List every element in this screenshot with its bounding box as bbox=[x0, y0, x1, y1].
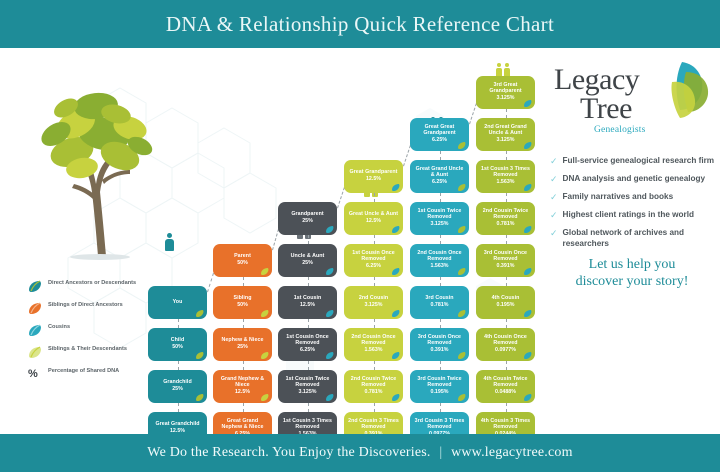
node-you: You bbox=[148, 286, 207, 319]
leaf-icon bbox=[523, 268, 532, 275]
leaf-mark-icon bbox=[652, 58, 710, 120]
feature-label: Global network of archives and researche… bbox=[563, 228, 716, 249]
node-percentage: 3.125% bbox=[299, 390, 317, 396]
connector-vertical bbox=[243, 361, 244, 370]
node-percentage: 0.195% bbox=[497, 303, 515, 309]
connector-vertical bbox=[374, 277, 375, 286]
connector-vertical bbox=[243, 319, 244, 328]
node-percentage: 6.25% bbox=[300, 348, 315, 354]
node-percentage: 0.195% bbox=[431, 390, 449, 396]
connector-vertical bbox=[308, 361, 309, 370]
connector-vertical bbox=[374, 319, 375, 328]
leaf-icon bbox=[457, 184, 466, 191]
node-c1r2b: 1st Cousin Twice Removed3.125% bbox=[410, 202, 469, 235]
connector-vertical bbox=[506, 403, 507, 412]
node-label: Great Grand Uncle & Aunt bbox=[413, 167, 466, 179]
node-percentage: 0.781% bbox=[365, 390, 383, 396]
connector-vertical bbox=[506, 109, 507, 118]
node-percentage: 3.125% bbox=[497, 138, 515, 144]
brand-panel: Legacy Tree Genealogists ✓ Full-service … bbox=[548, 56, 716, 290]
connector-vertical bbox=[243, 403, 244, 412]
node-percentage: 12.5% bbox=[366, 219, 381, 225]
node-label: Great Grand Nephew & Niece bbox=[216, 419, 269, 431]
connector-vertical bbox=[440, 151, 441, 160]
leaf-icon bbox=[457, 268, 466, 275]
node-percentage: 50% bbox=[237, 303, 248, 309]
node-percentage: 25% bbox=[237, 345, 248, 351]
legend-label: Direct Ancestors or Descendants bbox=[48, 280, 136, 288]
leaf-icon bbox=[523, 394, 532, 401]
legend-label: Cousins bbox=[48, 324, 70, 332]
node-percentage: 3.125% bbox=[365, 303, 383, 309]
node-label: 3rd Cousin 3 Times Removed bbox=[413, 419, 466, 431]
node-child: Child50% bbox=[148, 328, 207, 361]
connector-vertical bbox=[178, 403, 179, 412]
connector-vertical bbox=[506, 193, 507, 202]
leaf-icon bbox=[260, 310, 269, 317]
leaf-icon bbox=[523, 310, 532, 317]
leaf-icon bbox=[523, 352, 532, 359]
leaf-icon bbox=[195, 352, 204, 359]
cta-line-1: Let us help you bbox=[548, 256, 716, 273]
connector-vertical bbox=[374, 193, 375, 202]
person-you-icon bbox=[165, 233, 174, 251]
node-uncleaunt: Uncle & Aunt25% bbox=[278, 244, 337, 277]
page-header: DNA & Relationship Quick Reference Chart bbox=[0, 0, 720, 48]
legend-label: Siblings of Direct Ancestors bbox=[48, 302, 123, 310]
cta-line-2: discover your story! bbox=[548, 273, 716, 290]
legend-item: % Percentage of Shared DNA bbox=[28, 368, 140, 381]
node-percentage: 12.5% bbox=[235, 390, 250, 396]
leaf-icon bbox=[391, 394, 400, 401]
connector-vertical bbox=[374, 361, 375, 370]
node-ggua: Great Grand Uncle & Aunt6.25% bbox=[410, 160, 469, 193]
connector-vertical bbox=[440, 193, 441, 202]
footer-website-link[interactable]: www.legacytree.com bbox=[451, 445, 573, 460]
leaf-icon bbox=[391, 268, 400, 275]
leaf-icon bbox=[260, 268, 269, 275]
node-label: 2nd Cousin 3 Times Removed bbox=[347, 419, 400, 431]
connector-vertical bbox=[440, 235, 441, 244]
connector-vertical bbox=[440, 403, 441, 412]
node-label: 2nd Cousin Twice Removed bbox=[347, 377, 400, 389]
feature-item: ✓ Highest client ratings in the world bbox=[550, 210, 716, 221]
leaf-icon bbox=[195, 310, 204, 317]
node-c2r1b: 2nd Cousin Once Removed1.563% bbox=[410, 244, 469, 277]
node-percentage: 25% bbox=[172, 387, 183, 393]
node-percentage: 0.0977% bbox=[495, 348, 516, 354]
leaf-icon bbox=[325, 394, 334, 401]
connector-vertical bbox=[506, 235, 507, 244]
leaf-icon bbox=[391, 310, 400, 317]
check-icon: ✓ bbox=[550, 228, 558, 239]
node-label: 4th Cousin Twice Removed bbox=[479, 377, 532, 389]
call-to-action: Let us help you discover your story! bbox=[548, 256, 716, 290]
node-c1r2: 1st Cousin Twice Removed3.125% bbox=[278, 370, 337, 403]
couple-third-great-grandparent-icon bbox=[496, 63, 510, 77]
feature-item: ✓ DNA analysis and genetic genealogy bbox=[550, 174, 716, 185]
leaf-teal-icon bbox=[28, 280, 42, 293]
node-percentage: 50% bbox=[172, 345, 183, 351]
node-c2r3: 2nd Cousin 3 Times Removed0.391% bbox=[344, 412, 403, 434]
leaf-lime-icon bbox=[28, 346, 42, 359]
legacy-tree-logo[interactable]: Legacy Tree Genealogists bbox=[548, 56, 716, 152]
feature-label: Full-service genealogical research firm bbox=[563, 156, 715, 167]
leaf-icon bbox=[391, 352, 400, 359]
logo-line-1: Legacy bbox=[554, 66, 645, 94]
node-c3r1: 3rd Cousin Once Removed0.391% bbox=[410, 328, 469, 361]
node-label: 2nd Cousin Once Removed bbox=[347, 335, 400, 347]
node-percentage: 0.391% bbox=[497, 264, 515, 270]
feature-label: Family narratives and books bbox=[563, 192, 674, 203]
node-grandchild: Grandchild25% bbox=[148, 370, 207, 403]
feature-list: ✓ Full-service genealogical research fir… bbox=[548, 156, 716, 249]
node-c3r1b: 3rd Cousin Once Removed0.391% bbox=[476, 244, 535, 277]
node-grandparent: Grandparent25% bbox=[278, 202, 337, 235]
leaf-blue-icon bbox=[28, 324, 42, 337]
node-label: 3rd Great Grandparent bbox=[479, 83, 532, 95]
check-icon: ✓ bbox=[550, 156, 558, 167]
check-icon: ✓ bbox=[550, 174, 558, 185]
leaf-icon bbox=[391, 184, 400, 191]
footer-divider: | bbox=[439, 445, 442, 460]
node-percentage: 0.781% bbox=[431, 303, 449, 309]
leaf-icon bbox=[325, 268, 334, 275]
connector-vertical bbox=[243, 277, 244, 286]
node-percentage: 25% bbox=[302, 261, 313, 267]
node-percentage: 6.25% bbox=[366, 264, 381, 270]
node-label: Great Great Grandparent bbox=[413, 125, 466, 137]
check-icon: ✓ bbox=[550, 192, 558, 203]
page-title: DNA & Relationship Quick Reference Chart bbox=[166, 12, 554, 37]
legend-item: Direct Ancestors or Descendants bbox=[28, 280, 140, 293]
node-percentage: 0.0488% bbox=[495, 390, 516, 396]
node-grandnephew: Grand Nephew & Niece12.5% bbox=[213, 370, 272, 403]
node-percentage: 12.5% bbox=[300, 303, 315, 309]
node-percentage: 0.781% bbox=[497, 222, 515, 228]
leaf-icon bbox=[523, 226, 532, 233]
leaf-icon bbox=[457, 310, 466, 317]
percent-icon: % bbox=[28, 368, 42, 381]
node-c2r1: 2nd Cousin Once Removed1.563% bbox=[344, 328, 403, 361]
node-ggp: Great Grandparent12.5% bbox=[344, 160, 403, 193]
node-g3gp: 3rd Great Grandparent3.125% bbox=[476, 76, 535, 109]
connector-vertical bbox=[440, 361, 441, 370]
legend-item: Siblings of Direct Ancestors bbox=[28, 302, 140, 315]
node-percentage: 50% bbox=[237, 261, 248, 267]
leaf-icon bbox=[391, 226, 400, 233]
feature-item: ✓ Global network of archives and researc… bbox=[550, 228, 716, 249]
node-label: 4th Cousin 3 Times Removed bbox=[479, 419, 532, 431]
feature-item: ✓ Full-service genealogical research fir… bbox=[550, 156, 716, 167]
node-percentage: 25% bbox=[302, 219, 313, 225]
leaf-orange-icon bbox=[28, 302, 42, 315]
page-footer: We Do the Research. You Enjoy the Discov… bbox=[0, 434, 720, 472]
chart-canvas: YouChild50%Grandchild25%Great Grandchild… bbox=[0, 48, 720, 434]
node-c2r2: 2nd Cousin Twice Removed0.781% bbox=[344, 370, 403, 403]
node-sibling: Sibling50% bbox=[213, 286, 272, 319]
node-c3: 3rd Cousin0.781% bbox=[410, 286, 469, 319]
node-label: 3rd Cousin Once Removed bbox=[413, 335, 466, 347]
node-label: 2nd Great Grand Uncle & Aunt bbox=[479, 125, 532, 137]
node-label: 1st Cousin Once Removed bbox=[347, 251, 400, 263]
node-label: You bbox=[173, 300, 183, 306]
node-c3r3: 3rd Cousin 3 Times Removed0.0977% bbox=[410, 412, 469, 434]
check-icon: ✓ bbox=[550, 210, 558, 221]
node-percentage: 6.25% bbox=[432, 138, 447, 144]
node-c2: 2nd Cousin3.125% bbox=[344, 286, 403, 319]
node-percentage: 1.563% bbox=[365, 348, 383, 354]
legend-item: Cousins bbox=[28, 324, 140, 337]
node-gua: Great Uncle & Aunt12.5% bbox=[344, 202, 403, 235]
node-label: 4th Cousin Once Removed bbox=[479, 335, 532, 347]
logo-line-3: Genealogists bbox=[594, 125, 645, 135]
node-c4r2: 4th Cousin Twice Removed0.0488% bbox=[476, 370, 535, 403]
node-g2gua: 2nd Great Grand Uncle & Aunt3.125% bbox=[476, 118, 535, 151]
connector-vertical bbox=[178, 361, 179, 370]
connector-vertical bbox=[308, 319, 309, 328]
leaf-icon bbox=[325, 310, 334, 317]
feature-label: Highest client ratings in the world bbox=[563, 210, 694, 221]
node-label: 1st Cousin Twice Removed bbox=[413, 209, 466, 221]
leaf-icon bbox=[457, 352, 466, 359]
connector-vertical bbox=[506, 277, 507, 286]
node-parent: Parent50% bbox=[213, 244, 272, 277]
feature-item: ✓ Family narratives and books bbox=[550, 192, 716, 203]
node-c3r2: 3rd Cousin Twice Removed0.195% bbox=[410, 370, 469, 403]
node-greatgrandchild: Great Grandchild12.5% bbox=[148, 412, 207, 434]
node-label: 3rd Cousin Twice Removed bbox=[413, 377, 466, 389]
connector-vertical bbox=[506, 319, 507, 328]
connector-vertical bbox=[440, 277, 441, 286]
node-c4r1: 4th Cousin Once Removed0.0977% bbox=[476, 328, 535, 361]
leaf-icon bbox=[195, 394, 204, 401]
node-c1r1b: 1st Cousin Once Removed6.25% bbox=[344, 244, 403, 277]
node-greatgrandnephew: Great Grand Nephew & Niece6.25% bbox=[213, 412, 272, 434]
connector-vertical bbox=[440, 319, 441, 328]
connector-vertical bbox=[506, 361, 507, 370]
node-percentage: 3.125% bbox=[431, 222, 449, 228]
leaf-icon bbox=[260, 352, 269, 359]
node-c1: 1st Cousin12.5% bbox=[278, 286, 337, 319]
connector-vertical bbox=[374, 403, 375, 412]
node-c4: 4th Cousin0.195% bbox=[476, 286, 535, 319]
leaf-icon bbox=[523, 184, 532, 191]
node-percentage: 1.563% bbox=[497, 180, 515, 186]
infographic-page: DNA & Relationship Quick Reference Chart bbox=[0, 0, 720, 472]
connector-vertical bbox=[506, 151, 507, 160]
leaf-icon bbox=[325, 352, 334, 359]
node-c1r3: 1st Cousin 3 Times Removed1.563% bbox=[476, 160, 535, 193]
node-percentage: 1.563% bbox=[431, 264, 449, 270]
leaf-icon bbox=[523, 142, 532, 149]
leaf-icon bbox=[260, 394, 269, 401]
node-c4r3: 4th Cousin 3 Times Removed0.0244% bbox=[476, 412, 535, 434]
footer-tagline-text: We Do the Research. You Enjoy the Discov… bbox=[147, 445, 430, 460]
connector-vertical bbox=[308, 235, 309, 244]
node-percentage: 3.125% bbox=[497, 96, 515, 102]
leaf-icon bbox=[325, 226, 334, 233]
node-label: 2nd Cousin Once Removed bbox=[413, 251, 466, 263]
node-percentage: 12.5% bbox=[366, 177, 381, 183]
node-label: 2nd Cousin Twice Removed bbox=[479, 209, 532, 221]
leaf-icon bbox=[457, 226, 466, 233]
node-label: Grand Nephew & Niece bbox=[216, 377, 269, 389]
legend-label: Percentage of Shared DNA bbox=[48, 368, 119, 376]
node-nephewniece: Nephew & Niece25% bbox=[213, 328, 272, 361]
node-label: 3rd Cousin Once Removed bbox=[479, 251, 532, 263]
connector-vertical bbox=[308, 277, 309, 286]
logo-line-2: Tree bbox=[580, 94, 645, 124]
node-percentage: 6.25% bbox=[432, 180, 447, 186]
legend-item: Siblings & Their Descendants bbox=[28, 346, 140, 359]
feature-label: DNA analysis and genetic genealogy bbox=[563, 174, 706, 185]
legend: Direct Ancestors or Descendants Siblings… bbox=[28, 280, 140, 390]
legend-label: Siblings & Their Descendants bbox=[48, 346, 127, 354]
node-label: 1st Cousin Twice Removed bbox=[281, 377, 334, 389]
leaf-icon bbox=[457, 142, 466, 149]
node-gggp: Great Great Grandparent6.25% bbox=[410, 118, 469, 151]
connector-vertical bbox=[308, 403, 309, 412]
node-c2r2b: 2nd Cousin Twice Removed0.781% bbox=[476, 202, 535, 235]
connector-vertical bbox=[178, 319, 179, 328]
node-percentage: 0.391% bbox=[431, 348, 449, 354]
node-c1r1: 1st Cousin Once Removed6.25% bbox=[278, 328, 337, 361]
leaf-icon bbox=[523, 100, 532, 107]
footer-tagline: We Do the Research. You Enjoy the Discov… bbox=[147, 445, 572, 461]
node-label: 1st Cousin 3 Times Removed bbox=[281, 419, 334, 431]
family-tree-illustration bbox=[20, 60, 175, 260]
node-label: 1st Cousin Once Removed bbox=[281, 335, 334, 347]
leaf-icon bbox=[457, 394, 466, 401]
node-c1r3b: 1st Cousin 3 Times Removed1.563% bbox=[278, 412, 337, 434]
connector-vertical bbox=[374, 235, 375, 244]
node-label: 1st Cousin 3 Times Removed bbox=[479, 167, 532, 179]
